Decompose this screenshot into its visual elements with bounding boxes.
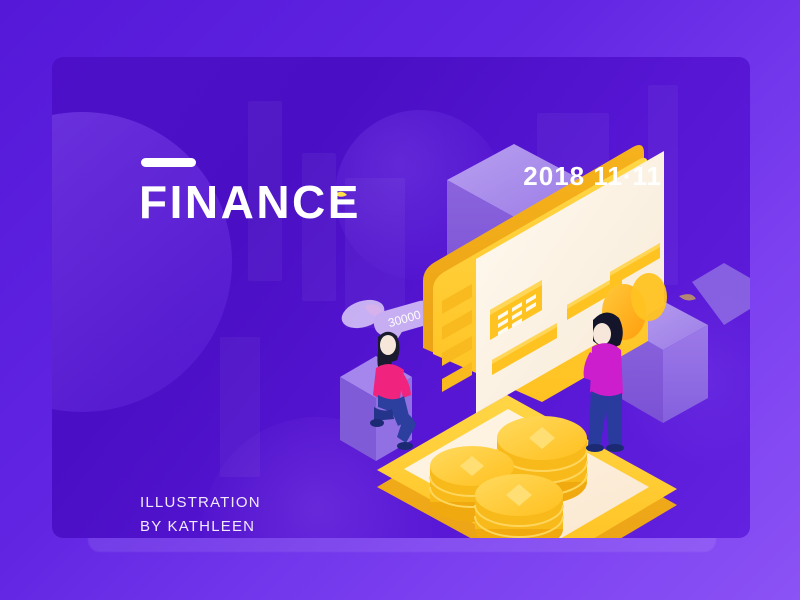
finance-illustration: 30000 <box>52 57 750 538</box>
background-cube-far-right <box>692 263 750 325</box>
date-label: 2018 11·11 <box>523 161 662 192</box>
poster-canvas: 30000 <box>0 0 800 600</box>
coin-stack-front <box>475 474 563 538</box>
credit-block: ILLUSTRATION BY KATHLEEN <box>140 491 261 538</box>
page-title: FINANCE <box>139 179 361 225</box>
title-rule <box>141 158 196 167</box>
credit-line-1: ILLUSTRATION <box>140 491 261 515</box>
poster-card: 30000 <box>52 57 750 538</box>
credit-line-2: BY KATHLEEN <box>140 515 261 538</box>
